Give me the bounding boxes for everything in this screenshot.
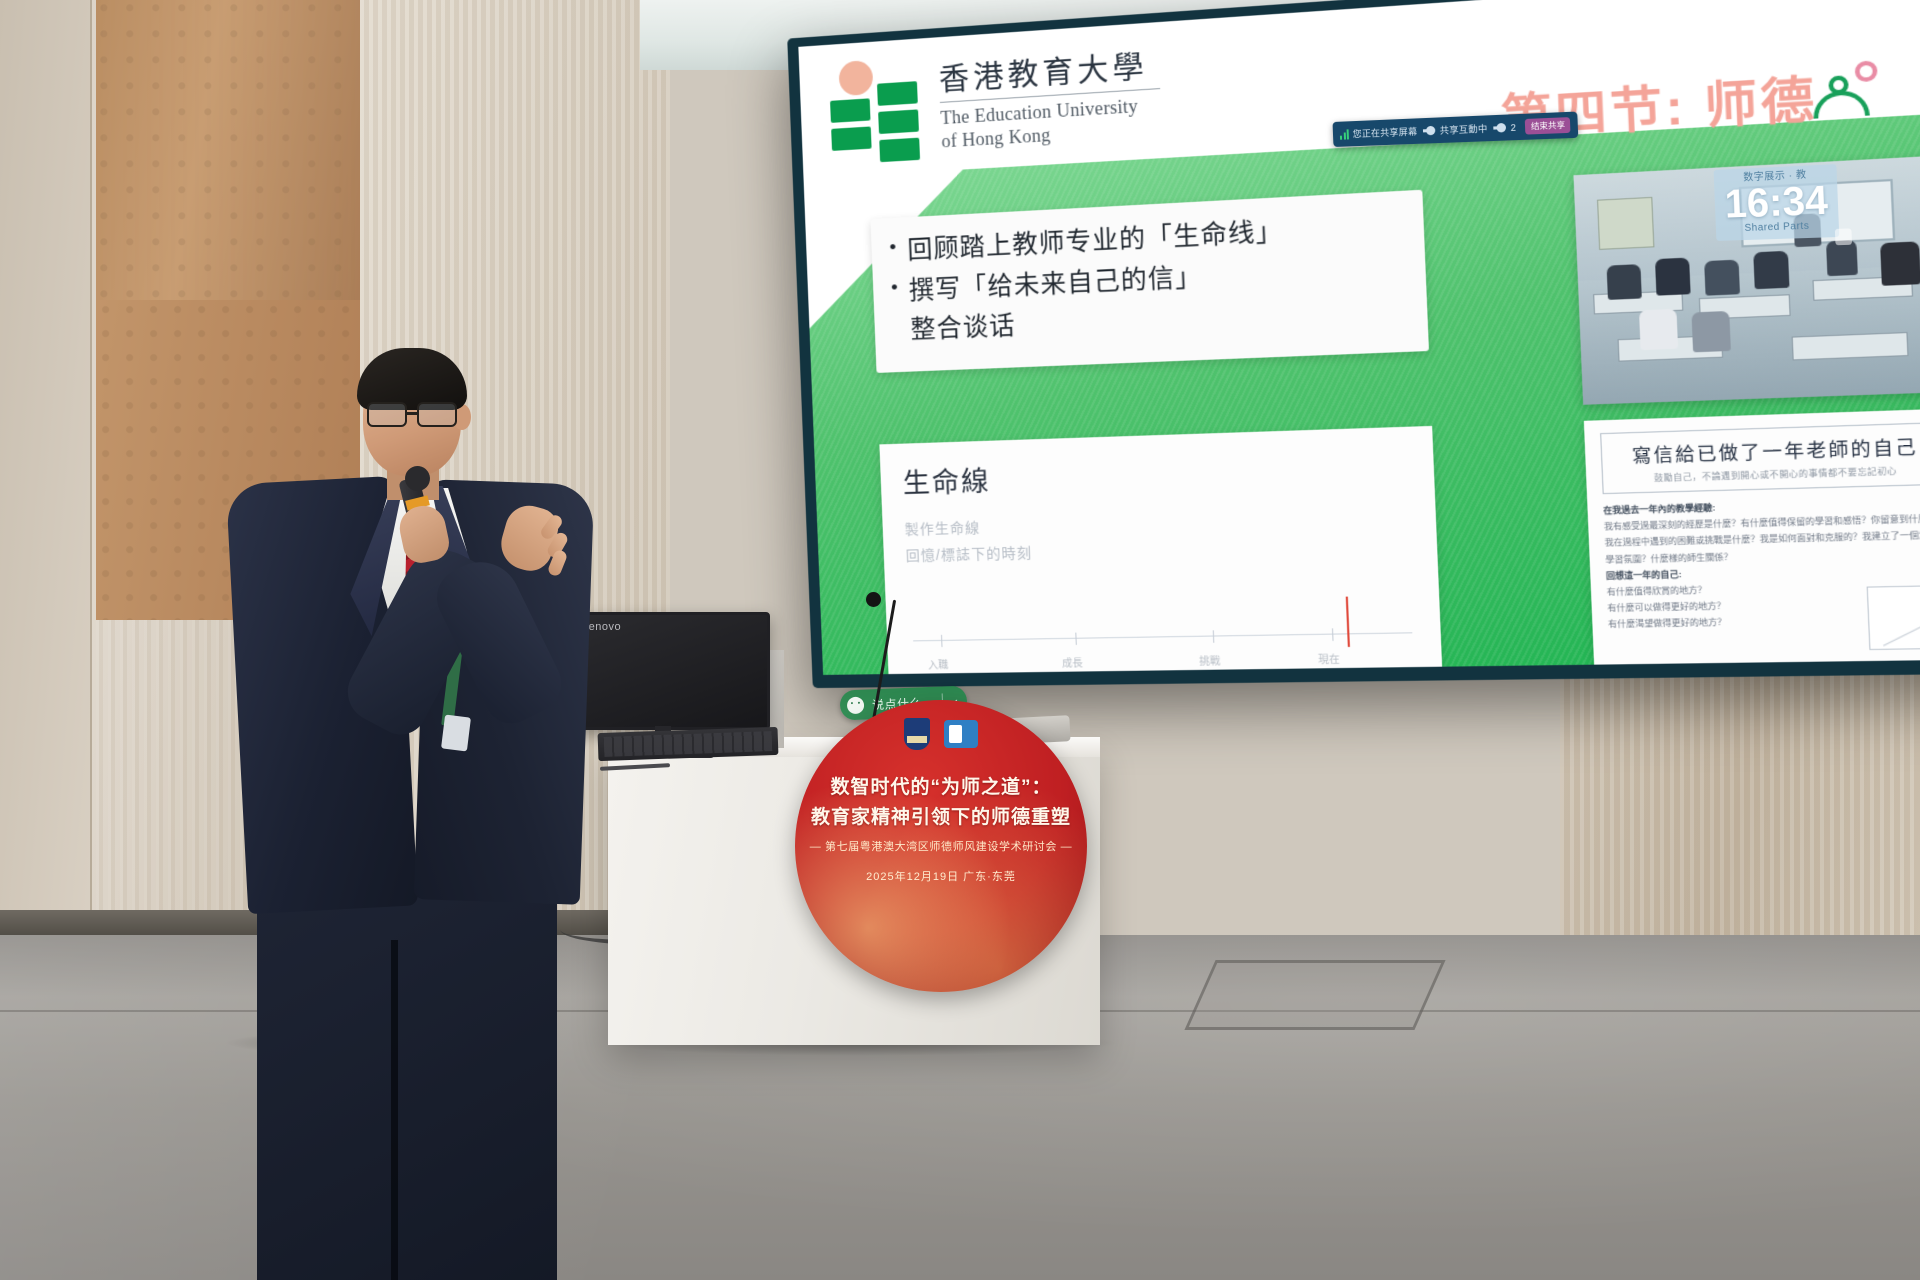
- letter-card: 寫信給已做了一年老師的自己 鼓勵自己，不論遇到開心或不開心的事情都不要忘記初心 …: [1584, 408, 1920, 669]
- lifeline-marker: [1346, 597, 1350, 647]
- timer-badge-icon: [1835, 228, 1852, 245]
- letter-section-1-label: 在我過去一年內的教學經驗:: [1603, 503, 1715, 516]
- share-status-label: 您正在共享屏幕: [1352, 125, 1417, 141]
- photo-student: [1880, 242, 1920, 286]
- poster-date-location: 2025年12月19日 广东·东莞: [795, 868, 1087, 884]
- lifeline-axis: [913, 632, 1412, 641]
- participant-count-value: 2: [1510, 122, 1516, 133]
- logo-bar: [879, 138, 920, 163]
- letter-section-2-label: 回想這一年的自己:: [1606, 569, 1682, 580]
- eduhk-logo: 香港教育大學 The Education University of Hong …: [827, 41, 1163, 159]
- timer-value: 16:34: [1724, 180, 1829, 223]
- logo-bar: [877, 81, 918, 106]
- letter-sketch-thumbnail: [1867, 585, 1920, 650]
- photo-student: [1691, 311, 1730, 352]
- people-group-icon: [1811, 60, 1881, 119]
- conference-poster: 数智时代的“为师之道”： 教育家精神引领下的师德重塑 — 第七届粤港澳大湾区师德…: [795, 700, 1087, 992]
- people-icon-head-pink: [1855, 60, 1878, 82]
- speaker-leg-separation: [391, 940, 398, 1280]
- poster-title-line-1: 数智时代的“为师之道”：: [795, 772, 1087, 799]
- lifeline-title: 生命線: [902, 446, 1411, 502]
- speaker-name-badge: [441, 715, 471, 752]
- eduhk-logo-mark: [827, 57, 926, 159]
- lifeline-axis-label: 現在: [1318, 650, 1340, 666]
- bullet-text: 整合谈话: [910, 308, 1016, 349]
- presentation-slide: 香港教育大學 The Education University of Hong …: [798, 0, 1920, 675]
- university-crest-icon: [904, 718, 930, 750]
- wall-panel-edge: [0, 0, 92, 1010]
- presenting-status: 共享互動中: [1426, 122, 1488, 138]
- floor-access-hatch: [1184, 960, 1445, 1030]
- signal-bars-icon: [1340, 129, 1349, 139]
- timer-overlay: 数字展示 · 教 16:34 Shared Parts: [1714, 164, 1840, 241]
- letter-note: 鼓勵自己，不論遇到開心或不開心的事情都不要忘記初心: [1612, 464, 1920, 485]
- bullet-dot-icon: •: [891, 274, 899, 302]
- photo-student: [1655, 257, 1690, 296]
- letter-title: 寫信給已做了一年老師的自己: [1611, 431, 1920, 468]
- poster-title-line-2: 教育家精神引领下的师德重塑: [795, 802, 1087, 829]
- glasses-lens-left: [367, 402, 407, 427]
- speaker-hair: [357, 348, 467, 410]
- lifeline-tick: [1332, 628, 1334, 641]
- photo-poster: [1597, 196, 1655, 249]
- logo-bar: [830, 98, 870, 123]
- photo-student: [1704, 260, 1740, 296]
- wall-display[interactable]: 香港教育大學 The Education University of Hong …: [787, 0, 1920, 688]
- logo-bar: [878, 109, 919, 134]
- gooseneck-mic-head: [866, 592, 881, 607]
- display-panel: 香港教育大學 The Education University of Hong …: [798, 0, 1920, 675]
- microphone-icon: [1426, 126, 1436, 136]
- logo-sun-dot: [838, 60, 873, 96]
- lifeline-tick: [1213, 630, 1215, 642]
- letter-header-box: 寫信給已做了一年老師的自己 鼓勵自己，不論遇到開心或不開心的事情都不要忘記初心: [1600, 422, 1920, 494]
- speaker-presenter: [215, 330, 635, 1050]
- partner-logo-icon: [944, 720, 978, 748]
- speaker-glasses: [365, 402, 461, 428]
- lifeline-axis-label: 挑戰: [1199, 652, 1221, 668]
- presenting-label: 共享互動中: [1440, 122, 1488, 137]
- acoustic-panel-upper: [96, 0, 364, 300]
- lifeline-tick: [1075, 633, 1077, 645]
- people-icon-body: [1813, 89, 1870, 118]
- lifeline-axis-label: 成長: [1062, 654, 1083, 670]
- speaker-trousers: [257, 885, 557, 1280]
- lifeline-card: 生命線 製作生命線 回憶/標誌下的時刻 入職 成長 挑戰 現在: [879, 426, 1442, 675]
- photo-desk: [1791, 332, 1908, 360]
- eduhk-logo-text: 香港教育大學 The Education University of Hong …: [938, 41, 1162, 153]
- poster-subtitle: — 第七届粤港澳大湾区师德师风建设学术研讨会 —: [795, 838, 1087, 854]
- glasses-bridge: [407, 412, 419, 415]
- stop-share-button[interactable]: 结束共享: [1525, 117, 1571, 134]
- conference-room-scene: 香港教育大學 The Education University of Hong …: [0, 0, 1920, 1280]
- bullet-dot-icon: •: [889, 234, 897, 262]
- participants-icon: [1497, 123, 1507, 133]
- photo-student: [1607, 264, 1642, 300]
- glasses-lens-right: [417, 402, 457, 427]
- photo-student: [1826, 240, 1858, 277]
- poster-logos: [795, 718, 1087, 750]
- participants-count[interactable]: 2: [1497, 122, 1516, 133]
- photo-student: [1753, 250, 1789, 289]
- lifeline-tick: [941, 635, 942, 647]
- slide-bullet-card: • 回顾踏上教师专业的「生命线」 • 撰写「给未来自己的信」 • 整合谈话: [870, 190, 1429, 373]
- lifeline-axis-label: 入職: [928, 656, 949, 671]
- logo-bar: [831, 126, 871, 150]
- share-status: 您正在共享屏幕: [1340, 125, 1418, 141]
- photo-student: [1639, 309, 1678, 350]
